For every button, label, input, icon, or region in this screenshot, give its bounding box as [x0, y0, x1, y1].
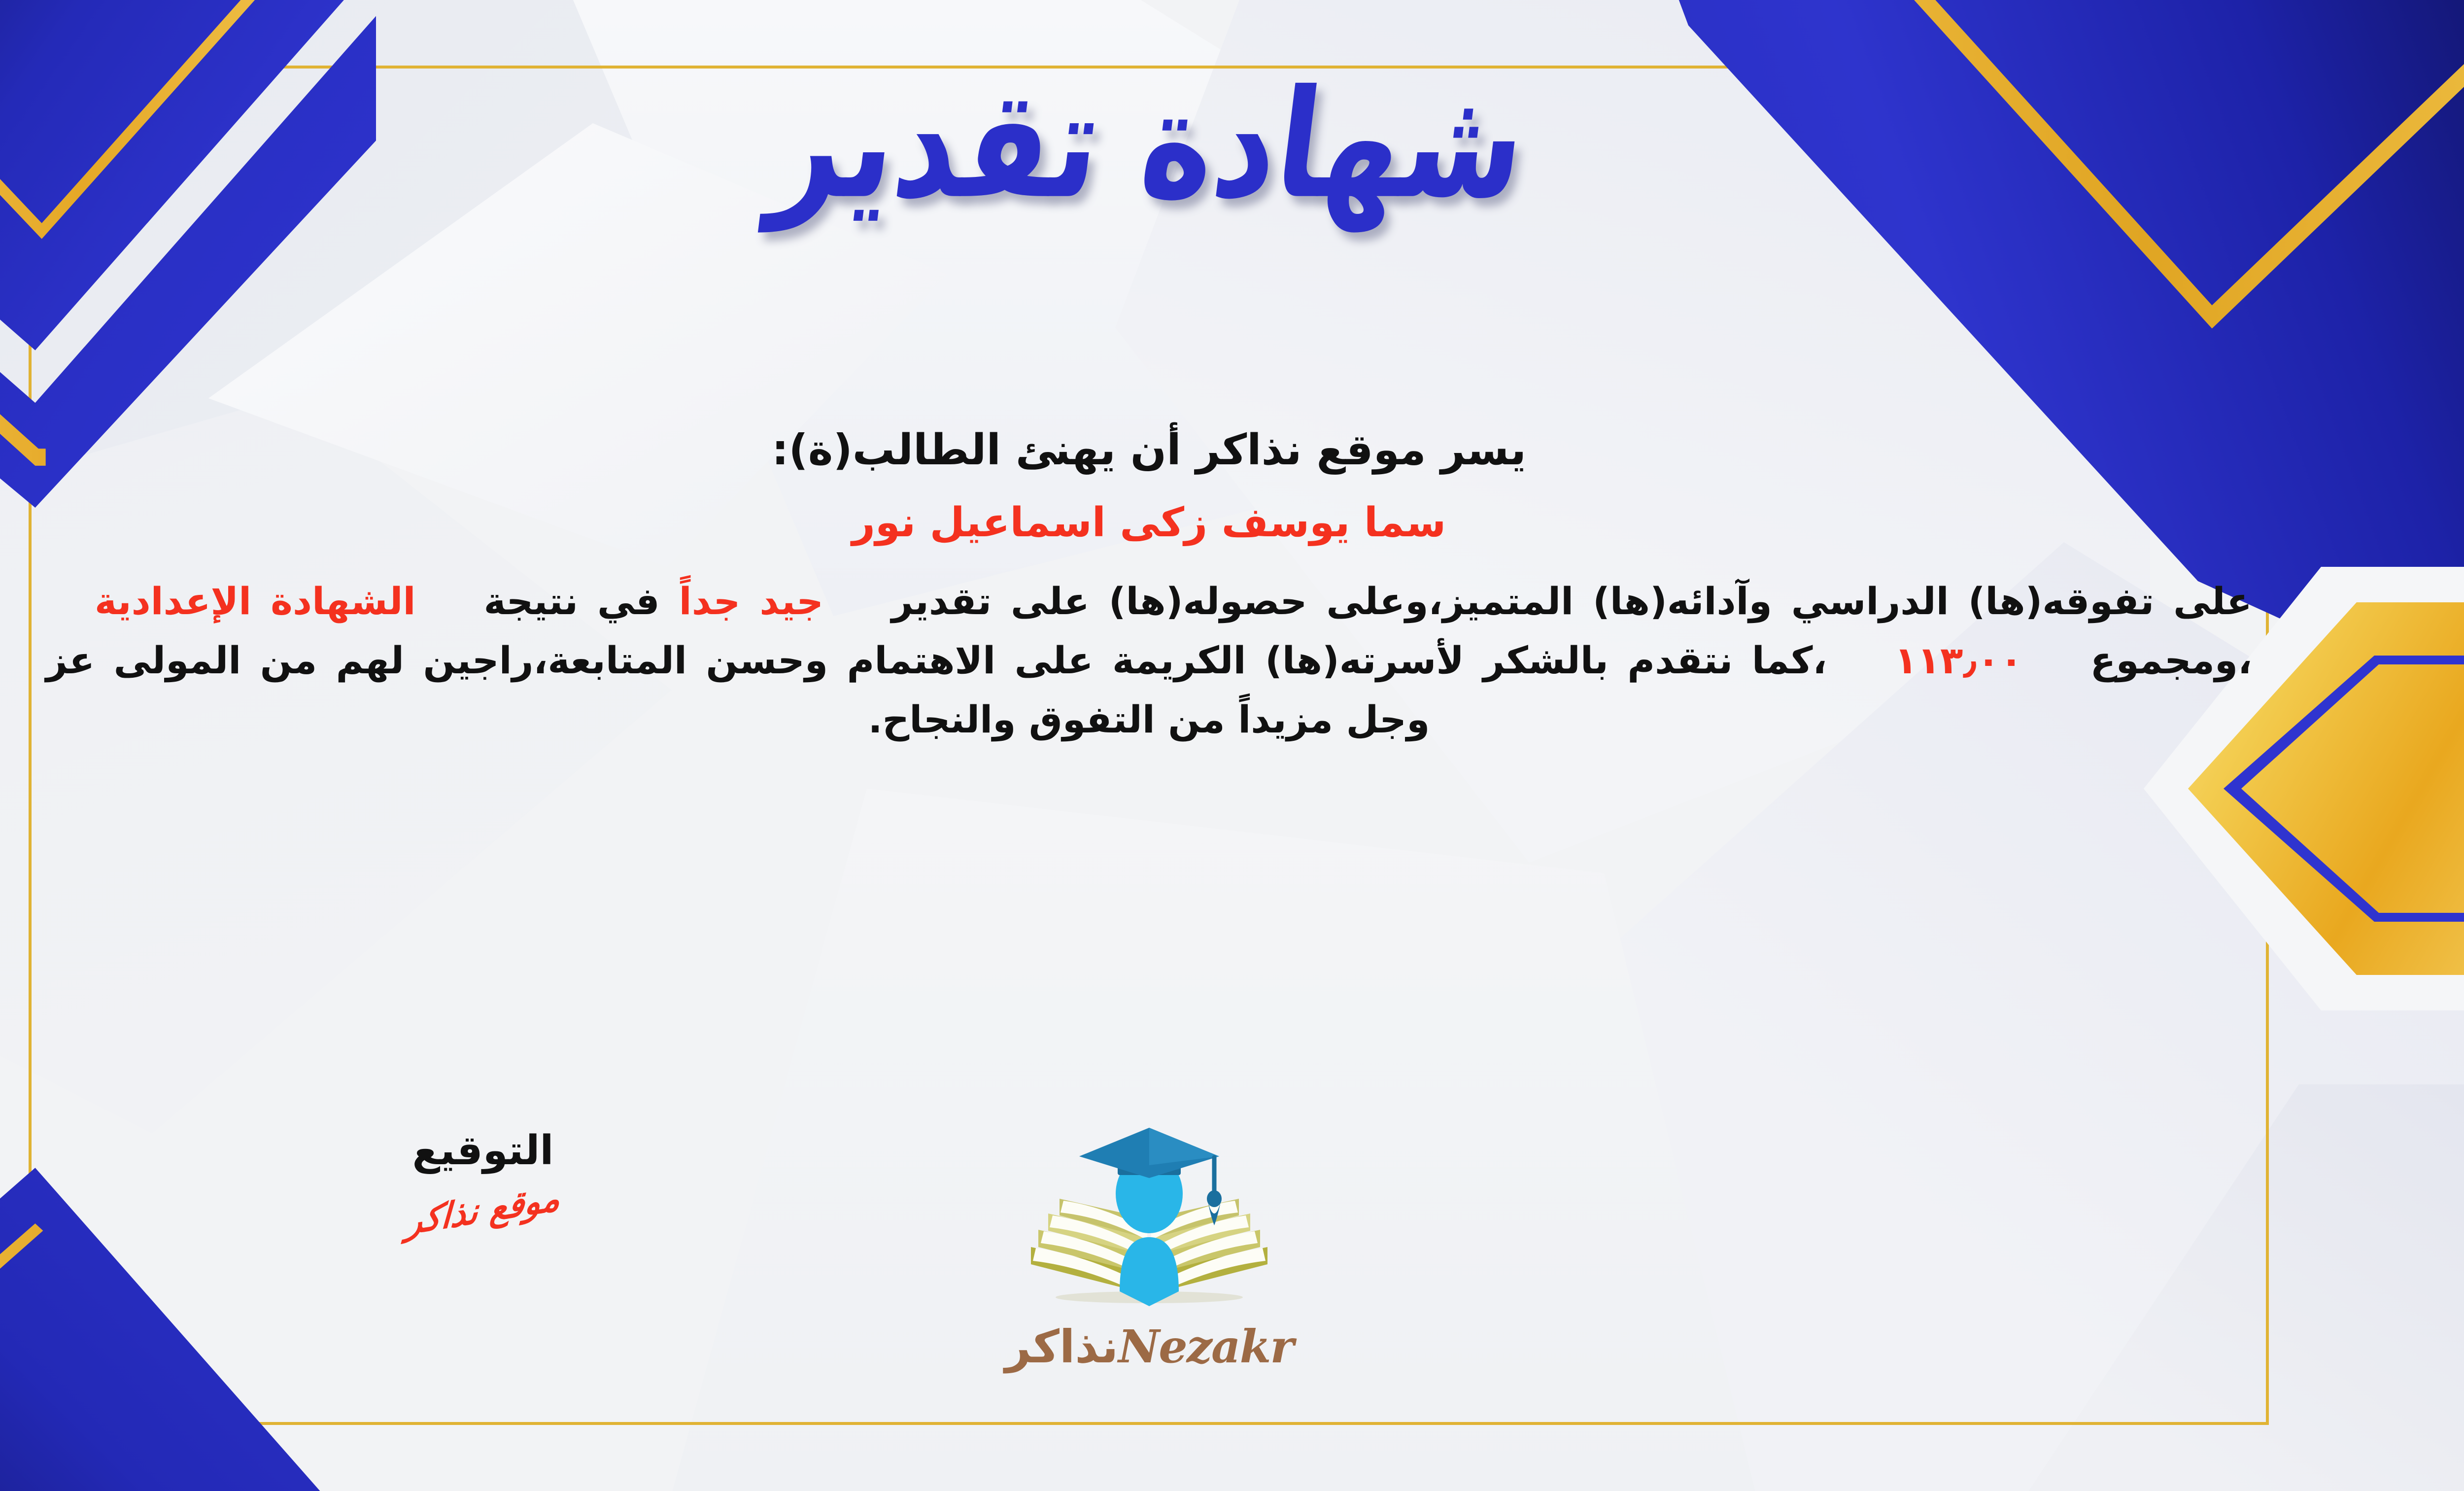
- certificate-body: يسر موقع نذاكر أن يهنئ الطالب(ة): سما يو…: [46, 424, 2252, 749]
- paragraph-segment-3: ،ومجموع: [2090, 638, 2252, 682]
- certificate-footer: التوقيع موقع نذاكر: [0, 1129, 2464, 1434]
- brand-logo: Nezakrنذاكر: [0, 1124, 2464, 1370]
- graduate-open-book-icon: [1021, 1124, 1277, 1321]
- grade-value: جيد جداً: [679, 579, 823, 623]
- congratulation-lead-text: يسر موقع نذاكر أن يهنئ الطالب(ة):: [46, 424, 2252, 477]
- student-name: سما يوسف زكى اسماعيل نور: [46, 498, 2252, 549]
- brand-logo-text: Nezakrنذاكر: [1005, 1324, 1293, 1370]
- total-score-value: ١١٣٫٠٠: [1894, 638, 2022, 682]
- paragraph-segment-1: على تفوقه(ها) الدراسي وآدائه(ها) المتميز…: [891, 579, 2252, 623]
- certificate-name-value: الشهادة الإعدادية: [95, 579, 416, 623]
- brand-name-latin: Nezakr: [1118, 1320, 1293, 1373]
- paragraph-segment-4: ،كما نتقدم بالشكر لأسرته(ها) الكريمة على…: [46, 638, 1827, 741]
- certificate-title: شهادة تقدير: [764, 70, 1533, 220]
- brand-name-arabic: نذاكر: [1005, 1320, 1118, 1373]
- certificate-canvas: شهادة تقدير يسر موقع نذاكر أن يهنئ الطال…: [0, 0, 2464, 1491]
- title-area: شهادة تقدير: [0, 84, 2464, 206]
- paragraph-segment-2: في نتيجة: [484, 579, 660, 623]
- achievement-paragraph: على تفوقه(ها) الدراسي وآدائه(ها) المتميز…: [46, 572, 2252, 749]
